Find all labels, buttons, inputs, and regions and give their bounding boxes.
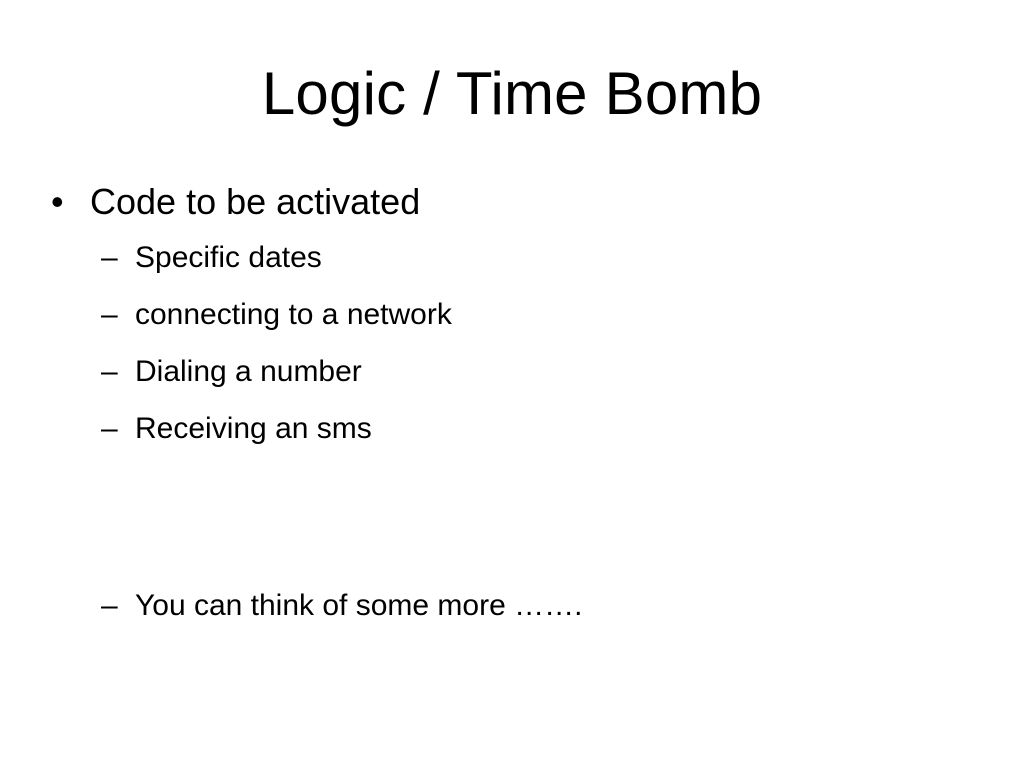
- blank-lines-spacer: [40, 466, 984, 586]
- bullet-dash-icon: –: [40, 238, 135, 278]
- slide: Logic / Time Bomb • Code to be activated…: [0, 0, 1024, 768]
- list-item: – Dialing a number: [40, 352, 984, 392]
- bullet-dash-icon: –: [40, 295, 135, 335]
- list-item: – You can think of some more …….: [40, 586, 984, 626]
- list-item: • Code to be activated: [40, 178, 984, 226]
- list-item-label: You can think of some more …….: [135, 586, 582, 626]
- list-item-label: Dialing a number: [135, 352, 362, 392]
- list-item: – Specific dates: [40, 238, 984, 278]
- bullet-dash-icon: –: [40, 409, 135, 449]
- list-item-label: Receiving an sms: [135, 409, 372, 449]
- slide-body-outline: • Code to be activated – Specific dates …: [40, 178, 984, 643]
- list-item-label: connecting to a network: [135, 295, 452, 335]
- bullet-dash-icon: –: [40, 586, 135, 626]
- list-item: – Receiving an sms: [40, 409, 984, 449]
- list-item-label: Specific dates: [135, 238, 322, 278]
- list-item-label: Code to be activated: [90, 178, 420, 226]
- bullet-dot-icon: •: [40, 178, 90, 226]
- bullet-dash-icon: –: [40, 352, 135, 392]
- list-item: – connecting to a network: [40, 295, 984, 335]
- page-title: Logic / Time Bomb: [0, 60, 1024, 128]
